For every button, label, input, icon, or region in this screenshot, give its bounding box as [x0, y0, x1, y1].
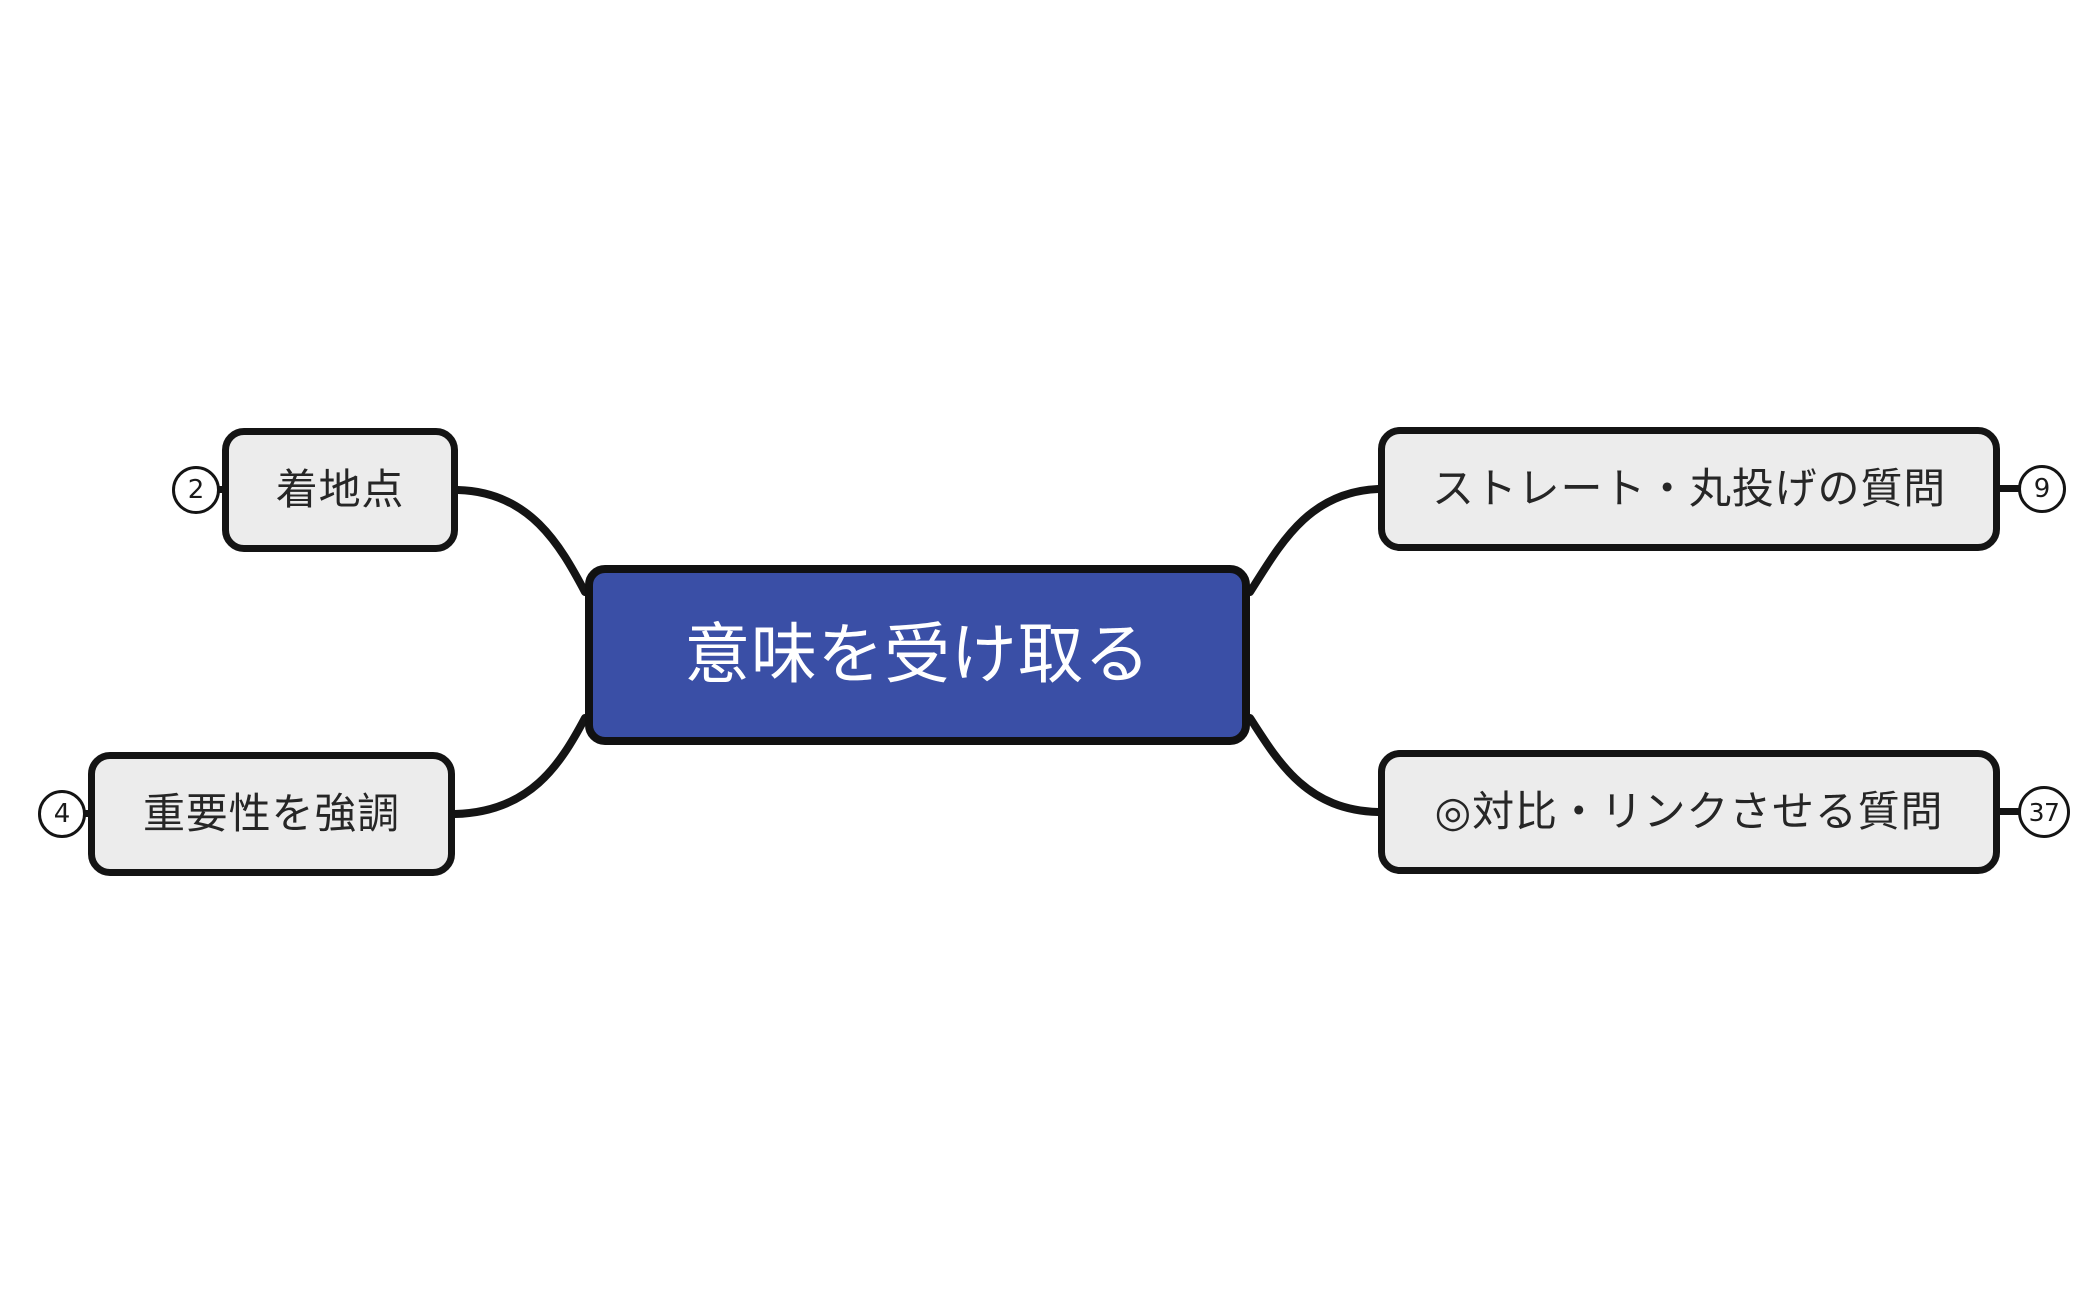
- edge-root-straight-throw-question: [1250, 489, 1378, 592]
- node-contrast-link-question-label: ◎対比・リンクさせる質問: [1435, 791, 1944, 833]
- edge-root-landing-point: [458, 490, 585, 592]
- node-straight-throw-question-label: ストレート・丸投げの質問: [1432, 468, 1946, 510]
- badge-contrast-link-question[interactable]: 37: [2018, 786, 2070, 838]
- node-landing-point[interactable]: 着地点: [222, 428, 458, 552]
- node-landing-point-label: 着地点: [276, 469, 405, 511]
- badge-straight-throw-question[interactable]: 9: [2018, 465, 2066, 513]
- edge-root-contrast-link-question: [1250, 718, 1378, 812]
- badge-contrast-link-question-label: 37: [2029, 800, 2060, 825]
- badge-landing-point-label: 2: [188, 477, 205, 503]
- badge-emphasize-importance-label: 4: [54, 801, 71, 827]
- badge-straight-throw-question-label: 9: [2034, 476, 2051, 502]
- node-contrast-link-question[interactable]: ◎対比・リンクさせる質問: [1378, 750, 2000, 874]
- edge-root-emphasize-importance: [455, 718, 585, 814]
- badge-landing-point[interactable]: 2: [172, 466, 220, 514]
- badge-emphasize-importance[interactable]: 4: [38, 790, 86, 838]
- node-emphasize-importance-label: 重要性を強調: [143, 793, 400, 835]
- node-emphasize-importance[interactable]: 重要性を強調: [88, 752, 455, 876]
- root-node-label: 意味を受け取る: [684, 622, 1151, 688]
- mindmap-canvas: 意味を受け取る 着地点 2 重要性を強調 4 ストレート・丸投げの質問 9 ◎対…: [0, 0, 2094, 1300]
- root-node[interactable]: 意味を受け取る: [585, 565, 1250, 745]
- node-straight-throw-question[interactable]: ストレート・丸投げの質問: [1378, 427, 2000, 551]
